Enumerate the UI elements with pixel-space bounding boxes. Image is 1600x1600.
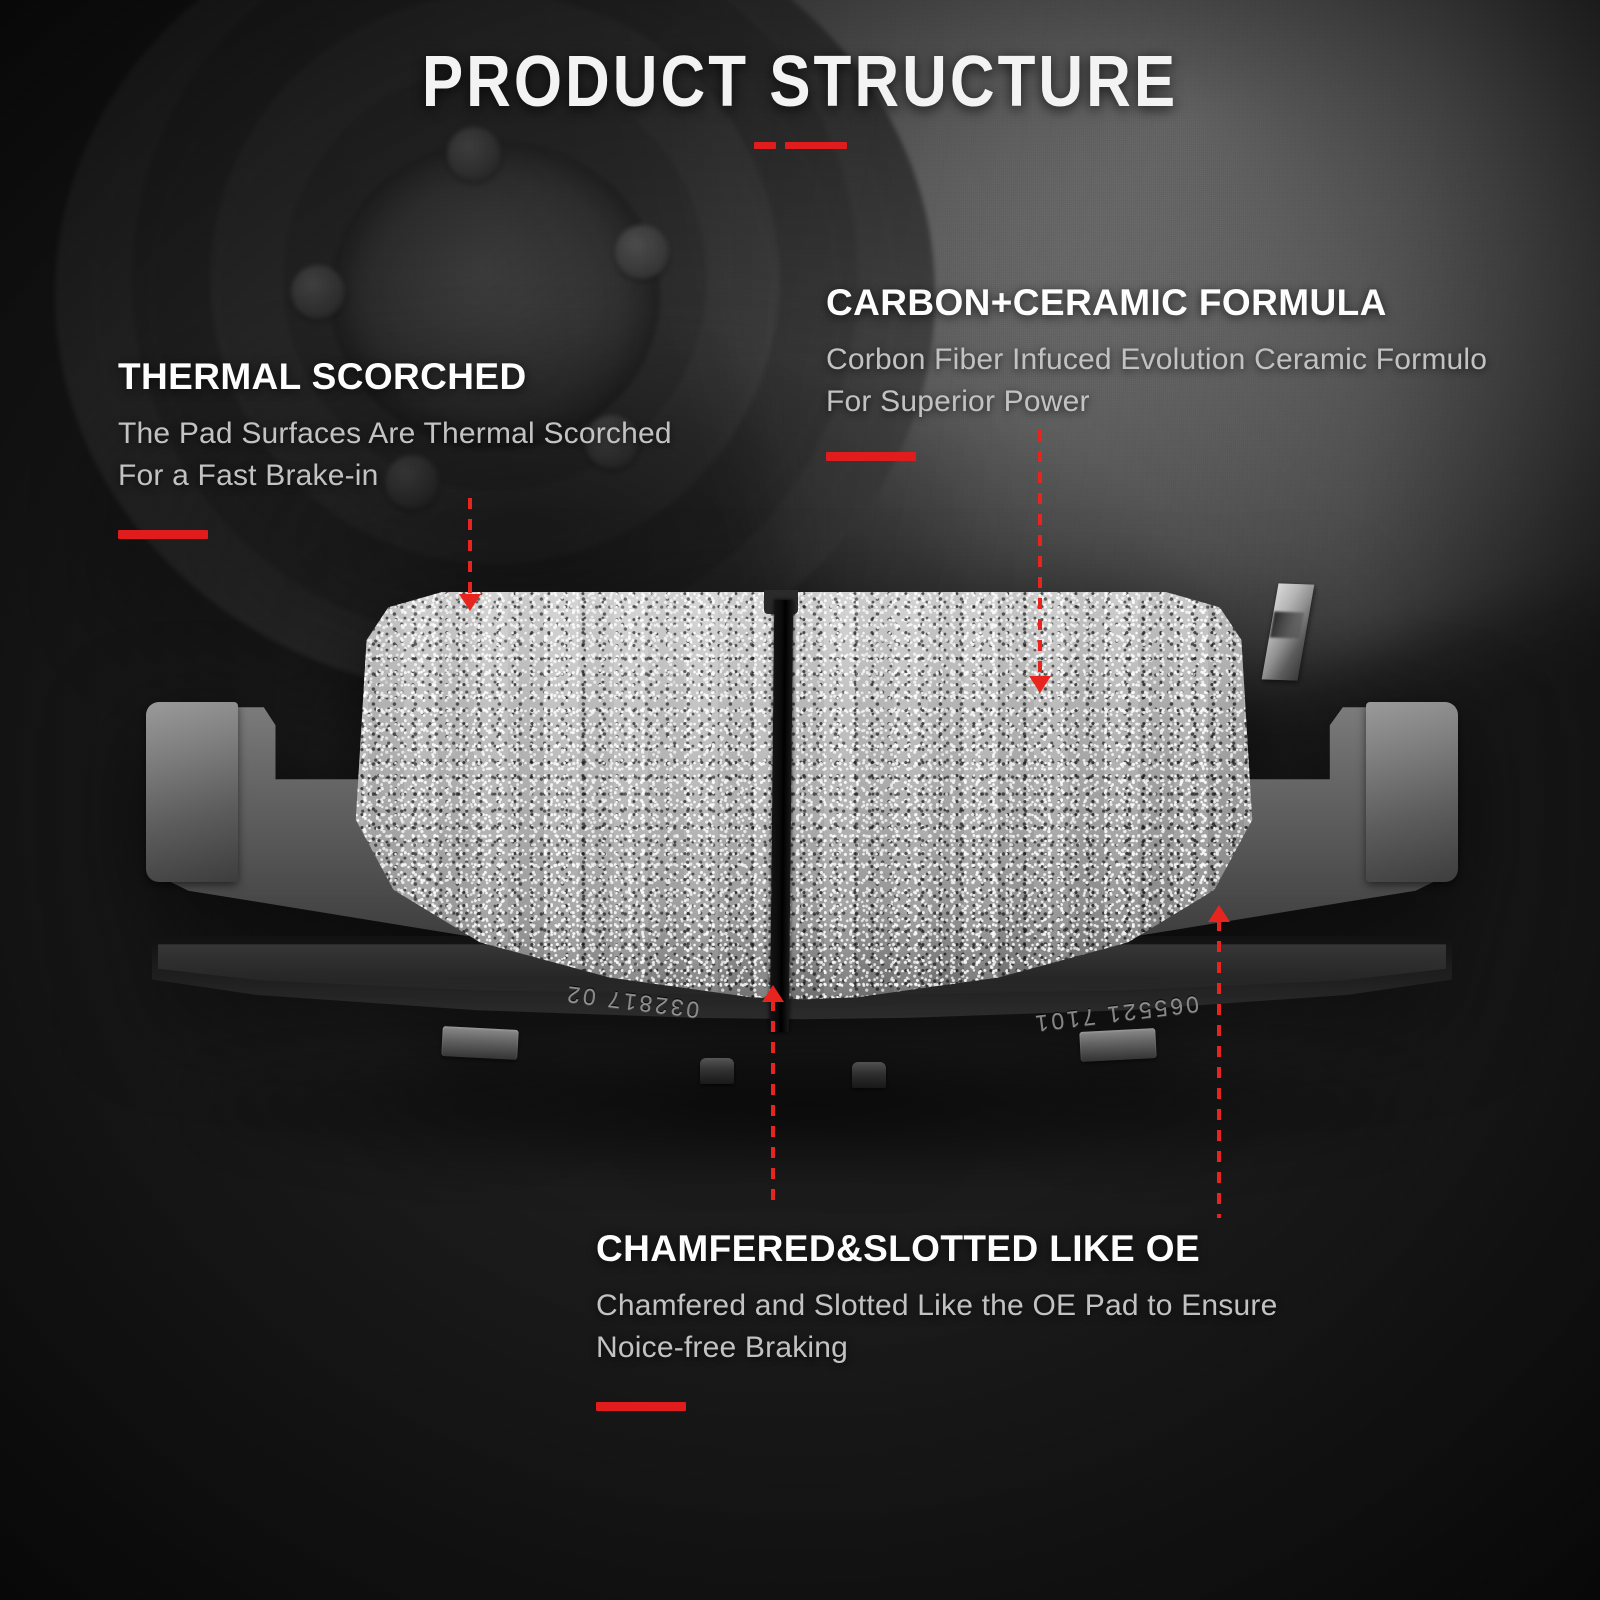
pointer-line-center-slot [771, 1000, 775, 1206]
title-accent-dash [754, 142, 776, 149]
pointer-arrowhead-down-icon [1029, 676, 1051, 693]
feature-body: Chamfered and Slotted Like the OE Pad to… [596, 1285, 1356, 1368]
feature-body: Corbon Fiber Infuced Evolution Ceramic F… [826, 339, 1516, 422]
mounting-ear-right [1366, 702, 1458, 882]
feature-accent-rule [118, 530, 208, 539]
pointer-arrowhead-down-icon [459, 594, 481, 611]
pointer-line-carbon [1038, 430, 1042, 678]
product-drop-shadow [210, 1058, 1400, 1178]
mounting-ear-left [146, 702, 238, 882]
feature-accent-rule [826, 452, 916, 461]
page-title: PRODUCT STRUCTURE [112, 46, 1488, 118]
retaining-clip-slot-right [1079, 1028, 1156, 1062]
title-accent-bar [785, 142, 847, 149]
title-accent-marks [0, 142, 1600, 149]
feature-block-chamfered-slotted: CHAMFERED&SLOTTED LIKE OE Chamfered and … [596, 1228, 1356, 1411]
pointer-dashes [771, 1000, 775, 1206]
feature-heading: CHAMFERED&SLOTTED LIKE OE [596, 1228, 1356, 1269]
product-structure-infographic: PRODUCT STRUCTURE 032817 02 065521 7101 [0, 0, 1600, 1600]
page-title-block: PRODUCT STRUCTURE [0, 46, 1600, 149]
feature-block-carbon-ceramic-formula: CARBON+CERAMIC FORMULA Corbon Fiber Infu… [826, 282, 1516, 461]
feature-heading: THERMAL SCORCHED [118, 356, 678, 397]
feature-block-thermal-scorched: THERMAL SCORCHED The Pad Surfaces Are Th… [118, 356, 678, 539]
feature-accent-rule [596, 1402, 686, 1411]
pointer-dashes [1038, 430, 1042, 678]
retaining-clip-slot-left [441, 1026, 518, 1060]
wear-indicator-clip-shadow [1270, 611, 1304, 638]
feature-body: The Pad Surfaces Are Thermal Scorched Fo… [118, 413, 678, 496]
ceramic-brake-pad: 032817 02 065521 7101 [152, 592, 1452, 1092]
feature-heading: CARBON+CERAMIC FORMULA [826, 282, 1516, 323]
pointer-arrowhead-up-icon [762, 985, 784, 1002]
pointer-dashes [1217, 920, 1221, 1218]
pointer-line-chamfer [1217, 920, 1221, 1218]
pointer-arrowhead-up-icon [1208, 905, 1230, 922]
